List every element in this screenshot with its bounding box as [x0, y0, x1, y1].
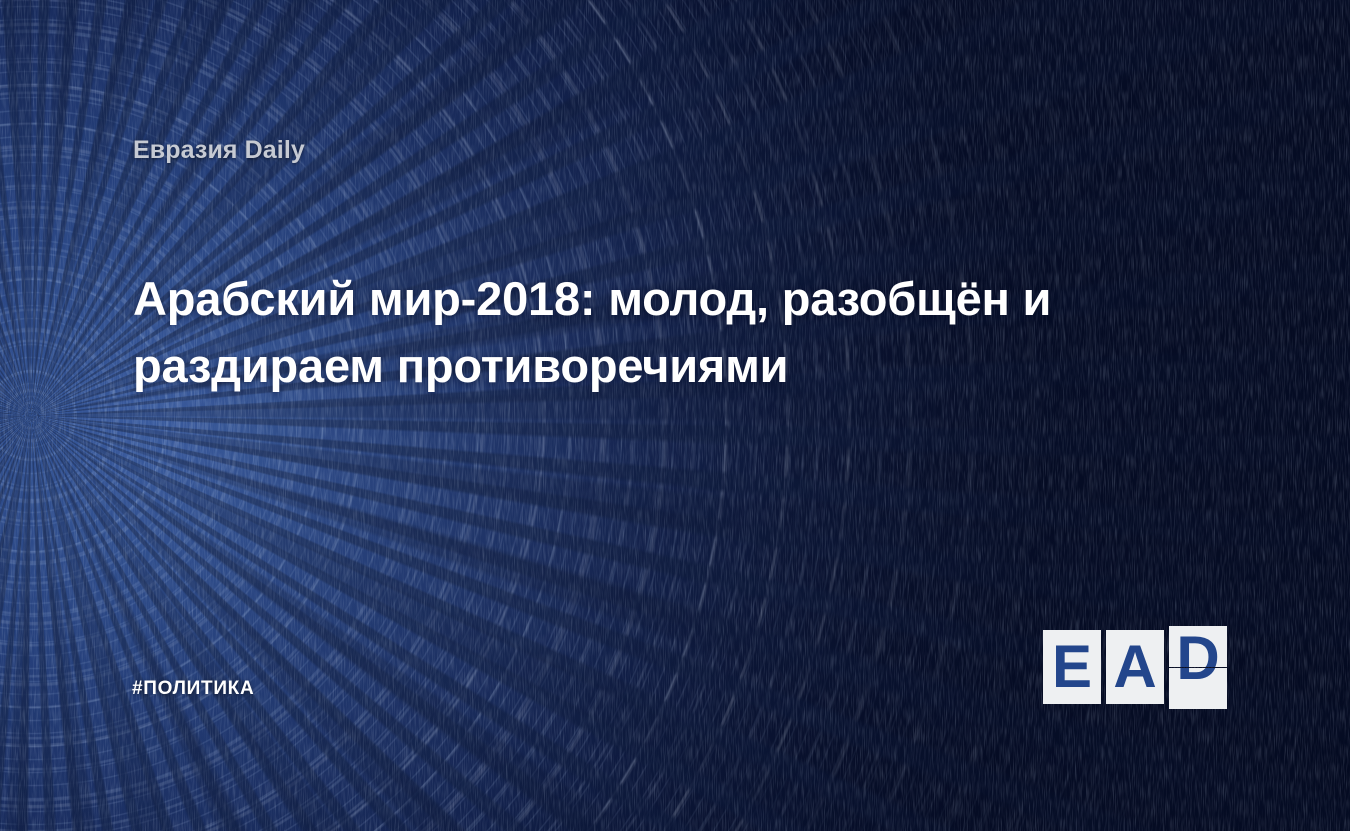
article-share-card: Евразия Daily Арабский мир-2018: молод, … [0, 0, 1350, 831]
logo-letter-a: A [1113, 637, 1156, 697]
card-content: Евразия Daily Арабский мир-2018: молод, … [0, 0, 1350, 831]
ead-logo[interactable]: E A D D [1043, 626, 1229, 708]
logo-letter-d-lower: D [1176, 668, 1219, 689]
headline-text: Арабский мир-2018: молод, разобщён и раз… [133, 266, 1193, 399]
logo-tile-d-lower: D [1169, 668, 1227, 709]
logo-tile-e: E [1043, 630, 1101, 704]
brand-name: Евразия Daily [133, 136, 305, 165]
logo-tile-d-upper: D [1169, 626, 1227, 667]
logo-tile-a: A [1106, 630, 1164, 704]
logo-letter-e: E [1052, 637, 1092, 697]
logo-letter-d-upper: D [1176, 628, 1219, 667]
category-hashtag[interactable]: #ПОЛИТИКА [132, 678, 254, 700]
